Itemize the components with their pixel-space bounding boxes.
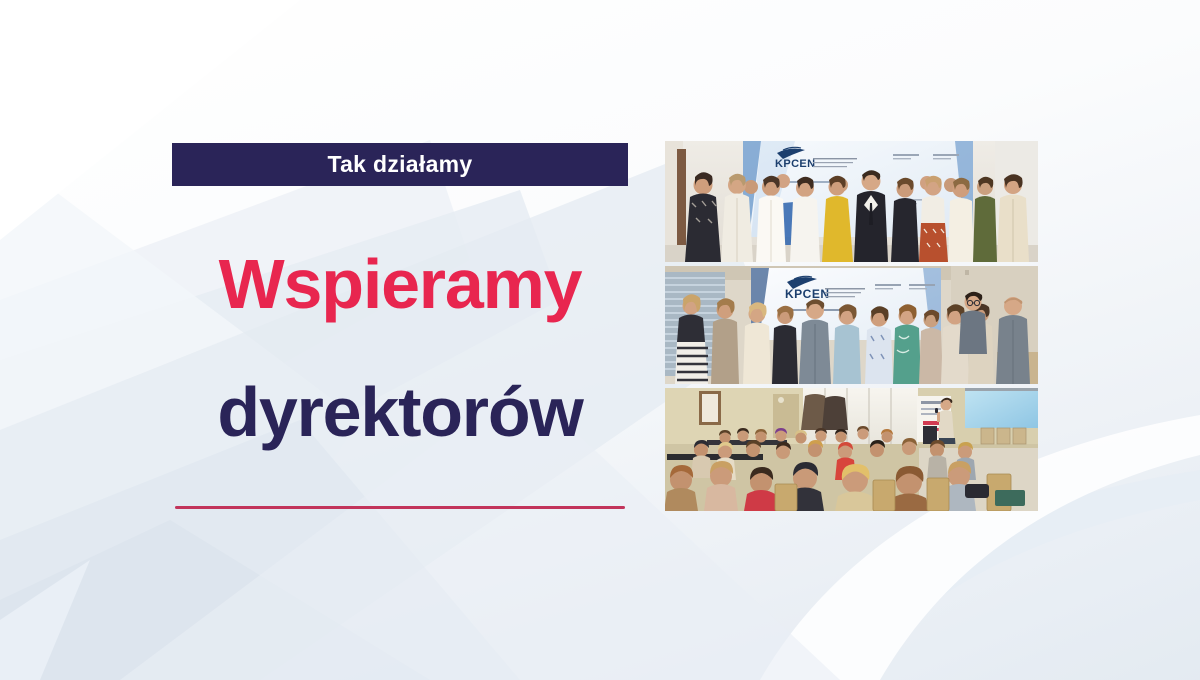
eyebrow-banner: Tak działamy <box>172 143 628 186</box>
headline-line-1: Wspieramy <box>172 249 628 319</box>
collage-photo-3 <box>665 388 1038 511</box>
svg-text:KPCEN: KPCEN <box>775 158 816 170</box>
text-column: Tak działamy Wspieramy dyrektorów <box>172 143 628 509</box>
headline-line-2: dyrektorów <box>172 377 628 447</box>
photo-collage: KPCEN <box>665 141 1038 511</box>
collage-photo-2: KPCEN <box>665 266 1038 384</box>
slide-canvas: Tak działamy Wspieramy dyrektorów <box>0 0 1200 680</box>
eyebrow-label: Tak działamy <box>327 153 472 176</box>
collage-photo-1: KPCEN <box>665 141 1038 262</box>
accent-divider <box>175 506 625 509</box>
svg-text:KPCEN: KPCEN <box>785 287 830 301</box>
